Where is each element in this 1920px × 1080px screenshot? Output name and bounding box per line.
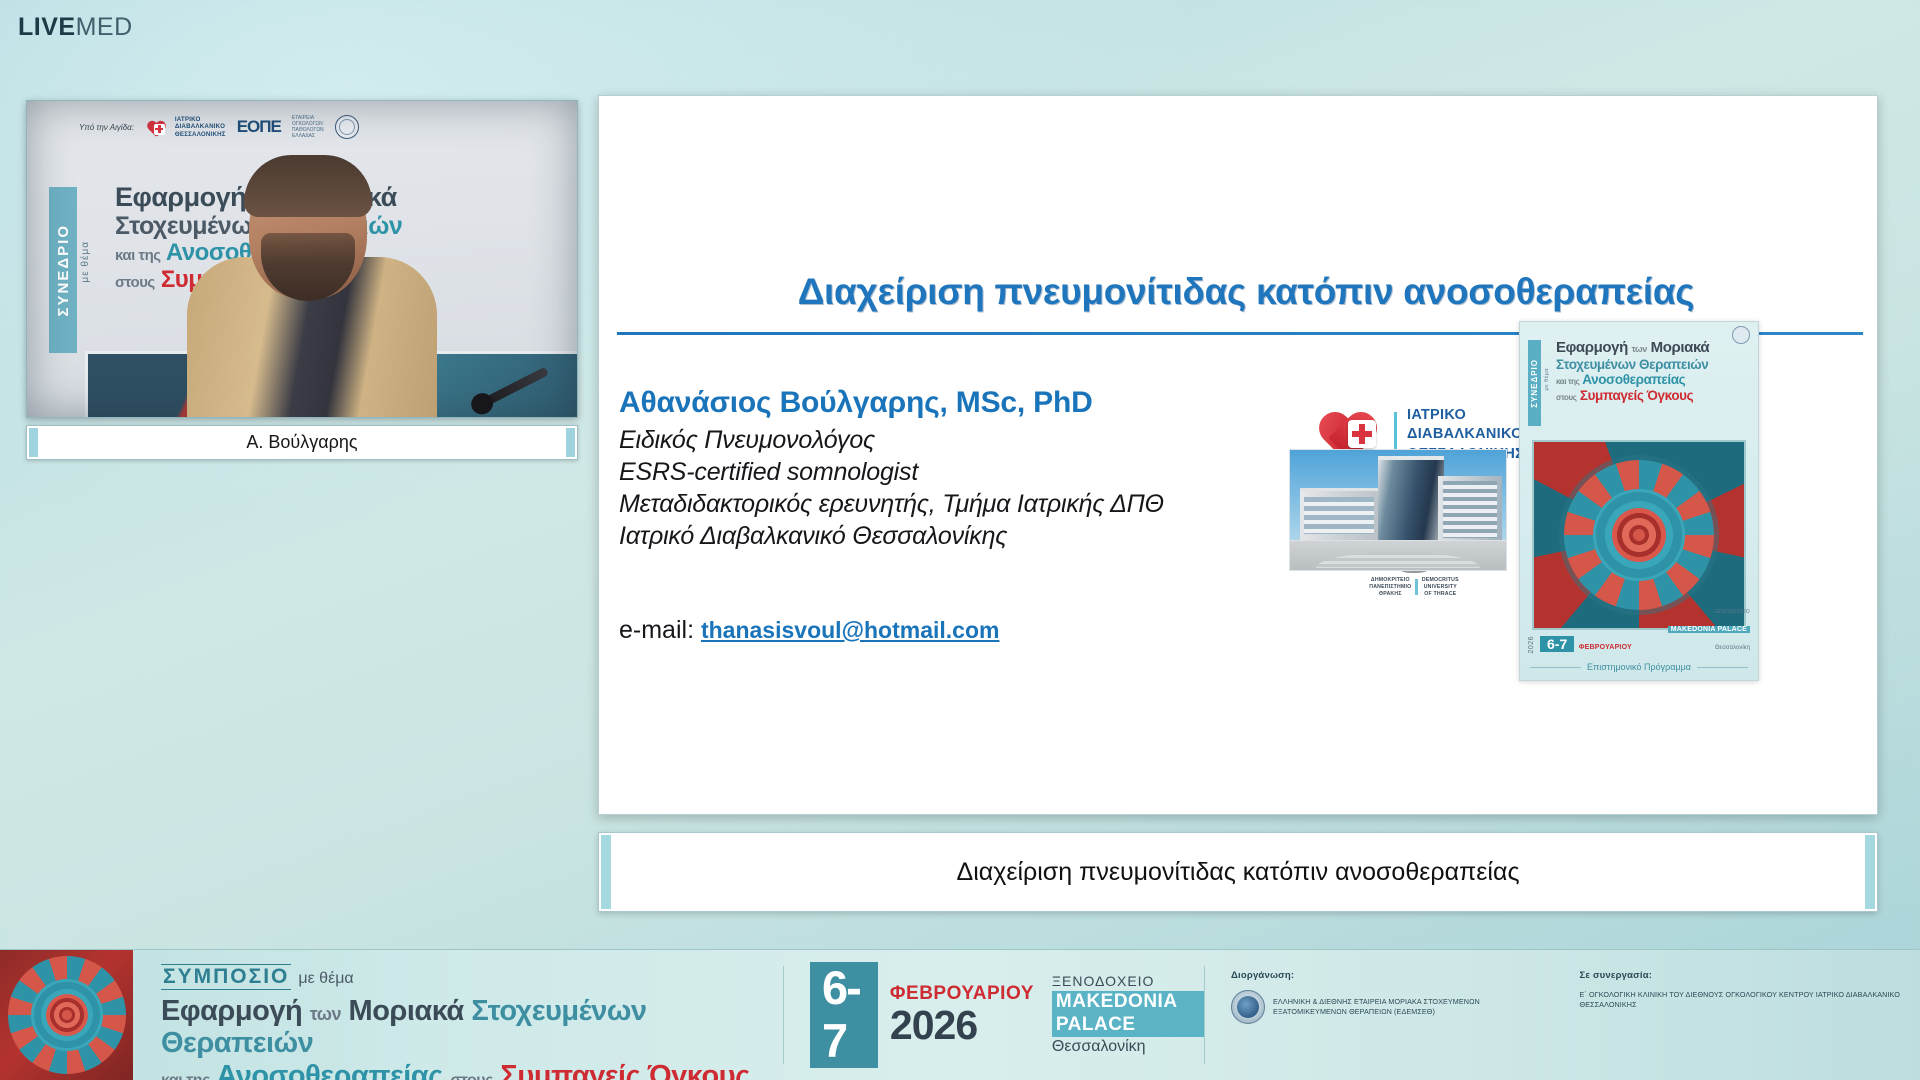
society-seal-icon	[1231, 990, 1265, 1024]
video-panel[interactable]: Υπό την Αιγίδα: ΙΑΤΡΙΚΟΔΙΑΒΑΛΚΑΝΙΚΟΘΕΣΣΑ…	[26, 100, 578, 460]
poster-rule-right	[1697, 667, 1748, 668]
poster-l3-main: Ανοσοθεραπείας	[1582, 372, 1685, 387]
footer-year: 2026	[890, 1002, 977, 1048]
poster-side-tag: ΣΥΝΕΔΡΙΟ	[1528, 340, 1541, 426]
footer-l2-small: και της	[161, 1072, 210, 1080]
poster-l4-small: στους	[1556, 393, 1577, 402]
poster-hotel-city: Θεσσαλονίκη	[1715, 645, 1750, 651]
footer-days: 6-7	[810, 962, 878, 1067]
presenter-credential-2: ESRS-certified somnologist	[619, 456, 1379, 488]
organizer-text: ΕΛΛΗΝΙΚΗ & ΔΙΕΘΝΗΣ ΕΤΑΙΡΕΙΑ ΜΟΡΙΑΚΑ ΣΤΟΧ…	[1273, 997, 1554, 1017]
presenter-credential-1: Ειδικός Πνευμονολόγος	[619, 424, 1379, 456]
poster-venue: ΞΕΝΟΔΟΧΕΙΟ MAKEDONIA PALACE Θεσσαλονίκη	[1668, 600, 1750, 654]
collaboration-label: Σε συνεργασία:	[1580, 970, 1903, 981]
hospital-building-photo	[1289, 449, 1507, 571]
footer-symposium-row: ΣΥΜΠΟΣΙΟ με θέμα	[161, 964, 783, 990]
photo-building-left	[1300, 488, 1378, 544]
poster-headline: Εφαρμογή των Μοριακά Στοχευμένων Θεραπει…	[1556, 340, 1752, 403]
university-logo-text: ΔΗΜΟΚΡΙΤΕΙΟΠΑΝΕΠΙΣΤΗΜΙΟΘΡΑΚΗΣ DEMOCRITUS…	[1359, 577, 1469, 597]
organizer-label: Διοργάνωση:	[1231, 970, 1554, 981]
presentation-caption-bar: Διαχείριση πνευμονίτιδας κατόπιν ανοσοθε…	[598, 832, 1878, 912]
poster-month: ΦΕΒΡΟΥΑΡΙΟΥ	[1579, 644, 1632, 651]
footer-symposium-keyword: ΣΥΜΠΟΣΙΟ	[161, 964, 291, 990]
footer-hotel-name: MAKEDONIA PALACE	[1052, 991, 1204, 1037]
footer-l2-red: Συμπαγείς Όγκους	[500, 1060, 749, 1080]
footer-l1-small: των	[310, 1004, 341, 1024]
presenter-credential-3: Μεταδιδακτορικός ερευνητής, Τμήμα Ιατρικ…	[619, 488, 1379, 520]
poster-programme-label: Επιστημονικό Πρόγραμμα	[1587, 662, 1691, 672]
footer-l2-small2: στους	[450, 1072, 493, 1080]
poster-line-2: Στοχευμένων Θεραπειών	[1556, 357, 1752, 373]
presenter-block: Αθανάσιος Βούλγαρης, MSc, PhD Ειδικός Πν…	[619, 386, 1379, 552]
poster-side-label: ΣΥΝΕΔΡΙΟ	[1530, 359, 1539, 408]
organizer-row: ΕΛΛΗΝΙΚΗ & ΔΙΕΘΝΗΣ ΕΤΑΙΡΕΙΑ ΜΟΡΙΑΚΑ ΣΤΟΧ…	[1231, 990, 1554, 1024]
event-footer-banner: ΣΥΜΠΟΣΙΟ με θέμα Εφαρμογή των Μοριακά Στ…	[0, 949, 1920, 1080]
photo-building-right	[1438, 476, 1502, 546]
footer-artwork	[0, 950, 133, 1080]
university-greek-name: ΔΗΜΟΚΡΙΤΕΙΟΠΑΝΕΠΙΣΤΗΜΙΟΘΡΑΚΗΣ	[1369, 577, 1411, 597]
slide-title: Διαχείριση πνευμονίτιδας κατόπιν ανοσοθε…	[629, 271, 1863, 313]
presenter-name: Αθανάσιος Βούλγαρης, MSc, PhD	[619, 386, 1379, 420]
speaker-name-plate: Α. Βούλγαρης	[26, 425, 578, 460]
collaboration-text: Ε΄ ΟΓΚΟΛΟΓΙΚΗ ΚΛΙΝΙΚΗ ΤΟΥ ΔΙΕΘΝΟΥΣ ΟΓΚΟΛ…	[1580, 990, 1903, 1010]
footer-line-1: Εφαρμογή των Μοριακά Στοχευμένων Θεραπει…	[161, 995, 783, 1060]
footer-date-venue: 6-7 ΦΕΒΡΟΥΑΡΙΟΥ 2026 ΞΕΝΟΔΟΧΕΙΟ MAKEDONI…	[784, 950, 1204, 1080]
poster-footer: 2026 6-7 ΦΕΒΡΟΥΑΡΙΟΥ ΞΕΝΟΔΟΧΕΙΟ MAKEDONI…	[1528, 600, 1750, 654]
poster-side-sub: με θέμα	[1544, 368, 1550, 391]
footer-l1-main: Εφαρμογή	[161, 995, 302, 1027]
footer-month: ΦΕΒΡΟΥΑΡΙΟΥ	[890, 983, 1034, 1004]
poster-programme-row: Επιστημονικό Πρόγραμμα	[1530, 662, 1748, 672]
poster-line-3: και της Ανοσοθεραπείας	[1556, 372, 1752, 388]
poster-rule-left	[1530, 667, 1581, 668]
hospital-line-1: ΙΑΤΡΙΚΟ	[1407, 407, 1466, 423]
email-link[interactable]: thanasisvoul@hotmail.com	[701, 617, 999, 643]
conference-poster: ΣΥΝΕΔΡΙΟ με θέμα Εφαρμογή των Μοριακά Στ…	[1519, 321, 1759, 681]
footer-hotel-label: ΞΕΝΟΔΟΧΕΙΟ	[1052, 973, 1155, 989]
presenter-credential-4: Ιατρικό Διαβαλκανικό Θεσσαλονίκης	[619, 520, 1379, 552]
footer-venue: ΞΕΝΟΔΟΧΕΙΟ MAKEDONIA PALACE Θεσσαλονίκη	[1052, 973, 1204, 1057]
footer-l2-main: Ανοσοθεραπείας	[216, 1060, 442, 1080]
poster-line-1: Εφαρμογή των Μοριακά	[1556, 340, 1752, 357]
university-english-name: DEMOCRITUSUNIVERSITYOF THRACE	[1422, 577, 1459, 597]
footer-l1-bold: Μοριακά	[349, 995, 464, 1027]
puzzle-target-icon	[1564, 460, 1714, 610]
university-logo-divider	[1415, 579, 1418, 595]
hospital-line-2: ΔΙΑΒΑΛΚΑΝΙΚΟ	[1407, 426, 1523, 442]
brand-med: MED	[76, 13, 133, 41]
footer-month-year: ΦΕΒΡΟΥΑΡΙΟΥ 2026	[890, 984, 1034, 1046]
speaker-head	[249, 159, 367, 299]
speaker-hair	[244, 155, 372, 217]
slide-viewer[interactable]: Διαχείριση πνευμονίτιδας κατόπιν ανοσοθε…	[598, 95, 1878, 815]
poster-l1-main: Εφαρμογή	[1556, 339, 1628, 356]
poster-year-vertical: 2026	[1528, 636, 1535, 654]
photo-building-center	[1378, 456, 1444, 548]
collaboration-row: Ε΄ ΟΓΚΟΛΟΓΙΚΗ ΚΛΙΝΙΚΗ ΤΟΥ ΔΙΕΘΝΟΥΣ ΟΓΚΟΛ…	[1580, 990, 1903, 1010]
photo-plaza	[1290, 540, 1506, 570]
collaboration-column: Σε συνεργασία: Ε΄ ΟΓΚΟΛΟΓΙΚΗ ΚΛΙΝΙΚΗ ΤΟΥ…	[1580, 970, 1903, 1080]
footer-organizations: Διοργάνωση: ΕΛΛΗΝΙΚΗ & ΔΙΕΘΝΗΣ ΕΤΑΙΡΕΙΑ …	[1205, 950, 1920, 1080]
livemed-logo: LIVEMED	[18, 15, 133, 40]
footer-title-block: ΣΥΜΠΟΣΙΟ με θέμα Εφαρμογή των Μοριακά Στ…	[133, 950, 783, 1080]
poster-l1-small: των	[1632, 344, 1647, 354]
name-plate-accent-left	[29, 428, 38, 457]
poster-line-4: στους Συμπαγείς Όγκους	[1556, 388, 1752, 404]
poster-l1-tail: Μοριακά	[1651, 339, 1710, 356]
footer-hotel-city: Θεσσαλονίκη	[1052, 1038, 1146, 1055]
caption-accent-right	[1865, 835, 1875, 909]
email-row: e-mail: thanasisvoul@hotmail.com	[619, 616, 999, 645]
poster-l3-small: και της	[1556, 377, 1579, 386]
poster-l4-main: Συμπαγείς Όγκους	[1580, 388, 1693, 403]
organizer-column: Διοργάνωση: ΕΛΛΗΝΙΚΗ & ΔΙΕΘΝΗΣ ΕΤΑΙΡΕΙΑ …	[1231, 970, 1554, 1080]
brand-live: LIVE	[18, 13, 76, 41]
name-plate-accent-right	[566, 428, 575, 457]
poster-hotel-label: ΞΕΝΟΔΟΧΕΙΟ	[1714, 609, 1750, 615]
speaker-name-label: Α. Βούλγαρης	[246, 432, 357, 453]
puzzle-target-icon	[8, 956, 126, 1074]
speaker-figure	[187, 117, 437, 417]
caption-accent-left	[601, 835, 611, 909]
video-player[interactable]: Υπό την Αιγίδα: ΙΑΤΡΙΚΟΔΙΑΒΑΛΚΑΝΙΚΟΘΕΣΣΑ…	[26, 100, 578, 418]
footer-symposium-sub: με θέμα	[298, 970, 353, 988]
medical-cross-icon	[154, 124, 165, 135]
email-label: e-mail:	[619, 616, 694, 644]
footer-line-2: και της Ανοσοθεραπείας στους Συμπαγείς Ό…	[161, 1060, 783, 1080]
poster-hotel-name: MAKEDONIA PALACE	[1668, 626, 1750, 633]
poster-days: 6-7	[1540, 636, 1574, 652]
caption-text: Διαχείριση πνευμονίτιδας κατόπιν ανοσοθε…	[957, 858, 1520, 887]
medical-cross-icon	[1348, 420, 1376, 448]
